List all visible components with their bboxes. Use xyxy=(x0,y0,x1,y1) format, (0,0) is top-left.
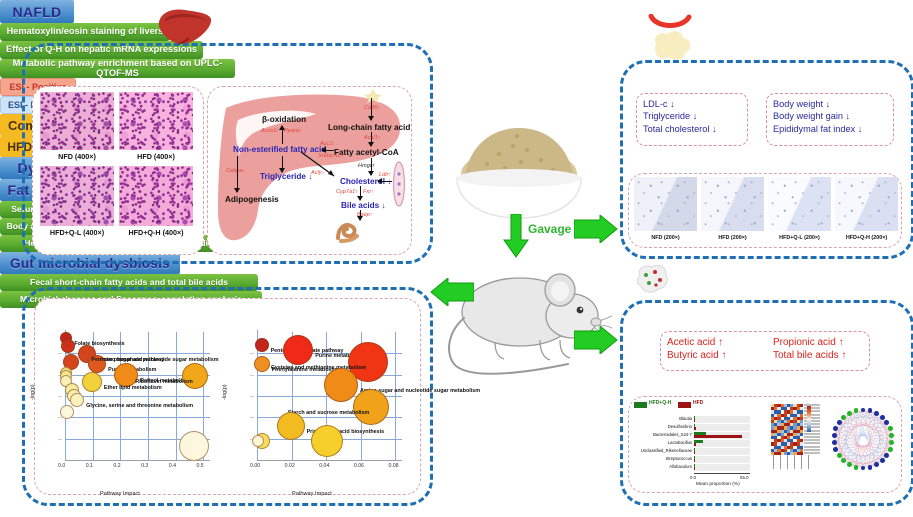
dendrogram-branch xyxy=(794,455,795,469)
scatter-bubble xyxy=(283,335,313,365)
adipocyte-caption-hfd-qh: HFD+Q-H (200×) xyxy=(835,235,898,241)
chylomicron-icon xyxy=(362,88,384,104)
bar-segment xyxy=(694,459,695,462)
bar-x-tick: 0.0 xyxy=(690,475,696,480)
histology-tile-hfd: HFD (400×) xyxy=(119,92,193,162)
liver-icon xyxy=(155,6,213,46)
network-node xyxy=(847,462,852,467)
bar-segment xyxy=(694,435,742,438)
x-tick: 0.08 xyxy=(388,463,398,469)
scatter-bubble xyxy=(252,435,264,447)
adipocyte-caption-hfd-ql: HFD+Q-L (200×) xyxy=(768,235,831,241)
adipocyte-tile-hfd-ql: HFD+Q-L (200×) xyxy=(768,177,831,243)
pathway-arrow-cd36-lcfa xyxy=(371,98,372,120)
serum-item-2: Total cholesterol ↓ xyxy=(643,123,741,135)
bar-track xyxy=(694,424,750,431)
heatmap-colorbar xyxy=(807,406,811,432)
header-scfa-bile-acids-text: Fecal short-chain fatty acids and total … xyxy=(30,278,228,287)
pathway-node-long-chain-fatty-acid: Long-chain fatty acid xyxy=(328,123,410,132)
heatmap-row-label xyxy=(804,449,820,451)
network-node xyxy=(880,458,885,463)
pathway-gene-ldlr: Ldlr↑ xyxy=(379,172,391,178)
network-node xyxy=(874,462,879,467)
x-tick: 0.00 xyxy=(250,463,260,469)
scatter-bubble xyxy=(60,405,74,419)
scfa-item-0: Acetic acid ↑ xyxy=(667,336,755,349)
correlation-network xyxy=(828,400,898,478)
heatmap-row-label xyxy=(804,436,820,438)
network-node xyxy=(888,426,893,431)
buckwheat-bowl-image xyxy=(447,104,592,224)
scatter-bubble xyxy=(61,339,75,353)
heatmap-row-label xyxy=(804,446,820,448)
pathway-gene-acc1: Acc1↓ xyxy=(320,141,335,147)
histology-tile-hfd-ql: HFD+Q-L (400×) xyxy=(40,166,114,238)
body-item-2: Epididymal fat index ↓ xyxy=(773,123,887,135)
y-tick: — xyxy=(58,350,62,355)
scatter-point-label: Ether lipid metabolism xyxy=(104,385,162,391)
body-item-0: Body weight ↓ xyxy=(773,98,887,110)
dendrogram-branch xyxy=(801,455,802,469)
scatter-point-label: Glycine, serine and threonine metabolism xyxy=(86,403,193,409)
histology-tile-nfd: NFD (400×) xyxy=(40,92,114,162)
x-tick: 0.2 xyxy=(113,463,120,469)
x-tick: 0.06 xyxy=(354,463,364,469)
bar-category-label: Lactobacillus xyxy=(632,440,692,445)
network-node xyxy=(847,411,852,416)
spearman-heatmap xyxy=(757,400,823,476)
network-node xyxy=(841,415,846,420)
pathway-arrow-acylcoa-to-cholesterol xyxy=(371,158,372,175)
scatter-bubble xyxy=(311,425,343,457)
esi-neg-ylabel: -log(p) xyxy=(222,384,228,400)
esi-negative-plot: 0.000.020.040.060.08—————Pentose phospha… xyxy=(240,328,410,488)
histology-caption-hfd-ql: HFD+Q-L (400×) xyxy=(40,228,114,237)
serum-item-1: Triglyceride ↓ xyxy=(643,110,741,122)
network-node xyxy=(880,415,885,420)
dendrogram-branch xyxy=(808,455,809,469)
network-node xyxy=(868,465,873,470)
bar-track xyxy=(694,456,750,463)
fat-blob-icon xyxy=(648,30,694,62)
adipocyte-caption-nfd: NFD (200×) xyxy=(634,235,697,241)
pathway-arrow-nefa-to-tg xyxy=(282,156,283,172)
arrow-to-metabolomics-panel xyxy=(430,278,474,306)
scfa-item-2: Butyric acid ↑ xyxy=(667,349,755,362)
x-tick: 0.4 xyxy=(169,463,176,469)
dendrogram-branch xyxy=(787,455,788,469)
microbial-bar-chart: HFD+Q-HHFDBlautiaDesulfovibrioBacteroida… xyxy=(632,400,754,488)
bar-category-label: Blautia xyxy=(632,416,692,421)
bar-category-label: Bacteroidales_S24-7 xyxy=(632,432,692,437)
bar-category-label: Allobaculum xyxy=(632,464,692,469)
pathway-gene-acox1: Acox1↑ xyxy=(261,128,279,134)
x-tick: 0.04 xyxy=(319,463,329,469)
scatter-bubble xyxy=(254,356,270,372)
nafld-title-text: NAFLD xyxy=(13,4,62,20)
network-node xyxy=(833,447,838,452)
scfa-item-3: Total bile acids ↑ xyxy=(773,349,846,362)
network-node xyxy=(832,440,837,445)
serum-biochemistry-list: LDL-c ↓ Triglyceride ↓ Total cholesterol… xyxy=(636,93,748,146)
pathway-arrow-ldlr-to-cholesterol xyxy=(378,181,392,182)
gut-microbiota-icon xyxy=(634,264,670,294)
dendrogram-branch xyxy=(773,455,774,469)
dendrogram-branch xyxy=(780,455,781,469)
bar-track xyxy=(694,416,750,423)
pathway-node-bile-acids: Bile acids ↓ xyxy=(341,201,386,210)
bar-category-label: Unclassified_Rikenellaceae xyxy=(632,448,692,453)
gavage-down-arrow xyxy=(503,214,529,258)
arrow-to-dyslipidemia-panel xyxy=(574,215,618,243)
bar-x-axis xyxy=(694,473,750,474)
scatter-bubble xyxy=(353,389,389,425)
scfa-item-1: Propionic acid ↑ xyxy=(773,336,844,349)
y-tick: — xyxy=(250,414,254,419)
x-tick: 0.02 xyxy=(285,463,295,469)
pathway-gene-cyp7a1: Cyp7a1↑ xyxy=(336,189,358,195)
pathway-arrow-bile-to-intestine xyxy=(360,210,361,220)
intestine-icon xyxy=(333,218,365,244)
adipocyte-tile-hfd: HFD (200×) xyxy=(701,177,764,243)
bar-track xyxy=(694,464,750,471)
heatmap-row-label xyxy=(804,452,820,454)
pathway-gene-ppara: Ppara↑ xyxy=(284,128,302,134)
y-tick: — xyxy=(250,372,254,377)
x-tick: 0.3 xyxy=(141,463,148,469)
scfa-list: Acetic acid ↑ Propionic acid ↑ Butyric a… xyxy=(660,331,870,371)
pathway-gene-fxr: Fxr↑ xyxy=(363,189,374,195)
bar-segment xyxy=(694,427,696,430)
legend-swatch xyxy=(634,402,647,408)
pathway-arrow-lcfa-to-acylcoa xyxy=(371,132,372,146)
bar-segment xyxy=(694,443,696,446)
adipocyte-tile-hfd-qh: HFD+Q-H (200×) xyxy=(835,177,898,243)
x-tick: 0.0 xyxy=(58,463,65,469)
network-node xyxy=(874,411,879,416)
network-node xyxy=(837,453,842,458)
bar-track xyxy=(694,448,750,455)
heatmap-row-label xyxy=(804,442,820,444)
legend-swatch xyxy=(678,402,691,408)
bar-category-label: Desulfovibrio xyxy=(632,424,692,429)
pathway-arrow-nefa-to-betaox xyxy=(282,126,283,144)
network-node xyxy=(888,447,893,452)
pathway-arrow-nefa-to-cholesterol xyxy=(300,150,342,182)
scatter-bubble xyxy=(255,338,269,352)
adipocyte-caption-hfd: HFD (200×) xyxy=(701,235,764,241)
pathway-node-beta-oxidation: β-oxidation xyxy=(262,115,306,124)
bar-segment xyxy=(694,467,695,470)
bar-segment xyxy=(694,451,695,454)
heatmap-row-label xyxy=(804,439,820,441)
esi-positive-plot: 0.00.10.20.30.40.5—————Folate biosynthes… xyxy=(48,328,218,488)
histology-caption-nfd: NFD (400×) xyxy=(40,152,114,161)
y-tick: — xyxy=(58,393,62,398)
heatmap-grid xyxy=(771,404,803,455)
esi-neg-x-axis xyxy=(257,460,402,461)
body-item-1: Body weight gain ↓ xyxy=(773,110,887,122)
serum-item-0: LDL-c ↓ xyxy=(643,98,741,110)
bar-category-label: Streptococcus xyxy=(632,456,692,461)
nafld-title-chip: NAFLD xyxy=(0,0,74,23)
bar-segment xyxy=(694,419,695,422)
gridline-h xyxy=(65,396,210,397)
header-liver-histology-text: Hematoxylin/eosin staining of livers xyxy=(7,27,164,37)
esi-neg-xlabel: Pathway Impact xyxy=(292,491,332,497)
scatter-bubble xyxy=(179,431,209,461)
scatter-bubble xyxy=(70,393,84,407)
pathway-node-adipogenesis: Adipogenesis xyxy=(225,195,279,204)
network-node xyxy=(832,433,837,438)
network-node xyxy=(837,420,842,425)
adipocyte-tile-nfd: NFD (200×) xyxy=(634,177,697,243)
y-tick: — xyxy=(250,350,254,355)
legend-label: HFD+Q-H xyxy=(649,400,671,406)
scatter-bubble xyxy=(82,372,102,392)
network-node xyxy=(854,465,859,470)
arrow-to-gut-panel xyxy=(574,326,618,354)
gridline-h xyxy=(65,417,210,418)
header-liver-histology: Hematoxylin/eosin staining of livers xyxy=(0,23,170,41)
body-fat-index-list: Body weight ↓ Body weight gain ↓ Epididy… xyxy=(766,93,894,146)
histology-tile-hfd-qh: HFD+Q-H (400×) xyxy=(119,166,193,238)
y-tick: — xyxy=(250,393,254,398)
bar-x-tick: 55.0 xyxy=(740,475,749,480)
pathway-arrow-nefa-to-adipogenesis xyxy=(237,156,238,192)
scatter-bubble xyxy=(182,363,208,389)
pathway-arrow-cholesterol-to-bile xyxy=(360,186,361,200)
x-tick: 0.1 xyxy=(86,463,93,469)
y-tick: — xyxy=(58,436,62,441)
pathway-gene-cebpa: Cebpa↓ xyxy=(226,168,245,174)
scatter-bubble xyxy=(277,412,305,440)
legend-label: HFD xyxy=(693,400,703,406)
bar-x-axis-label: Mean proportion (%) xyxy=(696,482,740,487)
histology-caption-hfd-qh: HFD+Q-H (400×) xyxy=(119,228,193,237)
heatmap-row-label xyxy=(804,433,820,435)
esi-pos-xlabel: Pathway Impact xyxy=(100,491,140,497)
esi-pos-ylabel: -log(p) xyxy=(30,384,36,400)
x-tick: 0.5 xyxy=(196,463,203,469)
histology-caption-hfd: HFD (400×) xyxy=(119,152,193,161)
gavage-label: Gavage xyxy=(528,222,571,236)
scatter-bubble xyxy=(324,368,358,402)
ldl-particle-icon xyxy=(392,160,406,208)
